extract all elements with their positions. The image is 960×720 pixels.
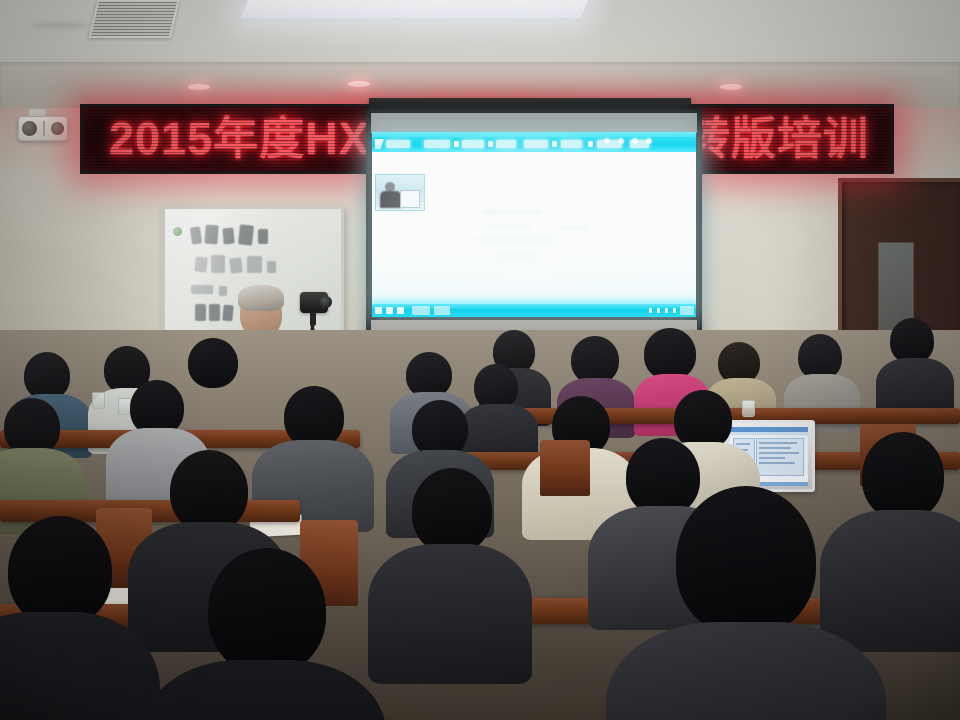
taskbar-window-2 [434,306,450,315]
speaker-cone-icon [22,121,37,136]
ceiling [0,0,960,112]
toolbar-icon-2 [488,141,493,147]
projected-app-canvas [372,152,696,301]
wall-speaker-left [18,116,68,141]
speaker-slit-icon [43,121,45,136]
toolbar-icon-1 [454,141,459,147]
speaker-tweeter-icon [51,122,64,135]
taskbar-window-1 [412,306,430,315]
toolbar-title-text [386,140,410,148]
thumbnail-person-body [380,191,401,208]
water-glass [92,392,105,409]
toolbar-item-3 [496,140,516,148]
screen-top-margin [371,113,697,133]
projected-taskbar [372,304,696,317]
whiteboard-glare [162,206,305,338]
toolbar-item-5 [561,140,582,148]
taskbar-icon-1 [386,307,393,314]
toolbar-item-1 [424,140,450,148]
toolbar-item-4 [524,140,548,148]
taskbar-icon-2 [397,307,404,314]
toolbar-icon-3 [552,141,557,147]
toolbar-item-2 [462,140,484,148]
projected-app-toolbar [372,137,696,152]
fluorescent-tube-light [241,0,592,18]
taskbar-start-icon [375,307,382,314]
downlight-2 [348,81,370,87]
toolbar-icon-4 [588,141,593,147]
water-glass [742,400,755,417]
projected-image [372,132,696,317]
taskbar-clock [680,306,694,315]
presenter-hair [238,285,284,311]
video-feed-thumbnail [375,174,425,211]
chair-back [540,440,590,496]
app-logo-icon [375,139,384,149]
conference-room-photo: 2015年度HXQC 转版培训 [0,0,960,720]
camera-lens-icon [320,296,332,308]
thumbnail-podium [400,190,420,208]
led-banner-text-right: 转版培训 [685,109,869,169]
projector-screen [366,108,702,349]
ceiling-ac-vent [89,0,180,38]
